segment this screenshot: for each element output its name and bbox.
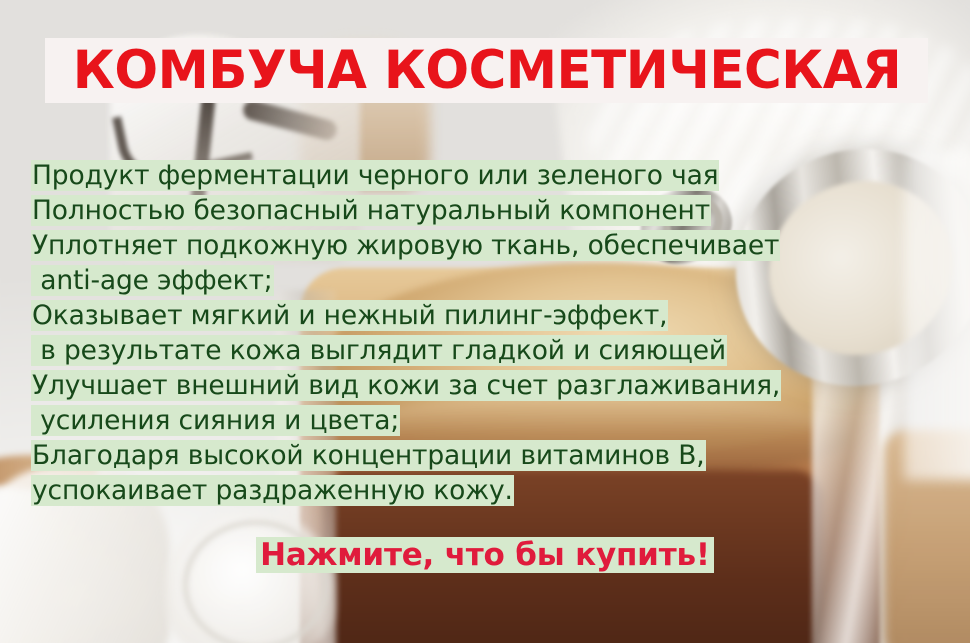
benefit-line-text: в результате кожа выглядит гладкой и сия… [31,335,727,366]
benefit-line-text: Полностью безопасный натуральный компоне… [31,195,711,226]
benefit-line-text: успокаивает раздраженную кожу. [31,475,514,506]
benefit-line: Оказывает мягкий и нежный пилинг-эффект, [31,298,921,333]
benefit-line-text: Уплотняет подкожную жировую ткань, обесп… [31,230,780,261]
benefit-line: Благодаря высокой концентрации витаминов… [31,438,921,473]
cta-area[interactable]: Нажмите, что бы купить! [0,533,970,577]
benefit-line-text: Оказывает мягкий и нежный пилинг-эффект, [31,300,668,331]
benefit-line-text: anti-age эффект; [31,265,274,296]
benefit-line: в результате кожа выглядит гладкой и сия… [31,333,921,368]
benefit-line: усиления сияния и цвета; [31,403,921,438]
benefit-line: Продукт ферментации черного или зеленого… [31,158,921,193]
benefit-line-text: Благодаря высокой концентрации витаминов… [31,440,706,471]
benefit-line-text: усиления сияния и цвета; [31,405,400,436]
benefit-line: успокаивает раздраженную кожу. [31,473,921,508]
benefit-line: Улучшает внешний вид кожи за счет разгла… [31,368,921,403]
page-title: КОМБУЧА КОСМЕТИЧЕСКАЯ [72,44,900,97]
benefits-list: Продукт ферментации черного или зеленого… [31,158,921,508]
benefit-line: anti-age эффект; [31,263,921,298]
benefit-line-text: Улучшает внешний вид кожи за счет разгла… [31,370,781,401]
benefit-line: Полностью безопасный натуральный компоне… [31,193,921,228]
benefit-line-text: Продукт ферментации черного или зеленого… [31,160,719,191]
promo-banner: КОМБУЧА КОСМЕТИЧЕСКАЯ Продукт ферментаци… [0,0,970,643]
buy-now-cta[interactable]: Нажмите, что бы купить! [256,537,714,573]
headline-band: КОМБУЧА КОСМЕТИЧЕСКАЯ [45,38,928,103]
benefit-line: Уплотняет подкожную жировую ткань, обесп… [31,228,921,263]
